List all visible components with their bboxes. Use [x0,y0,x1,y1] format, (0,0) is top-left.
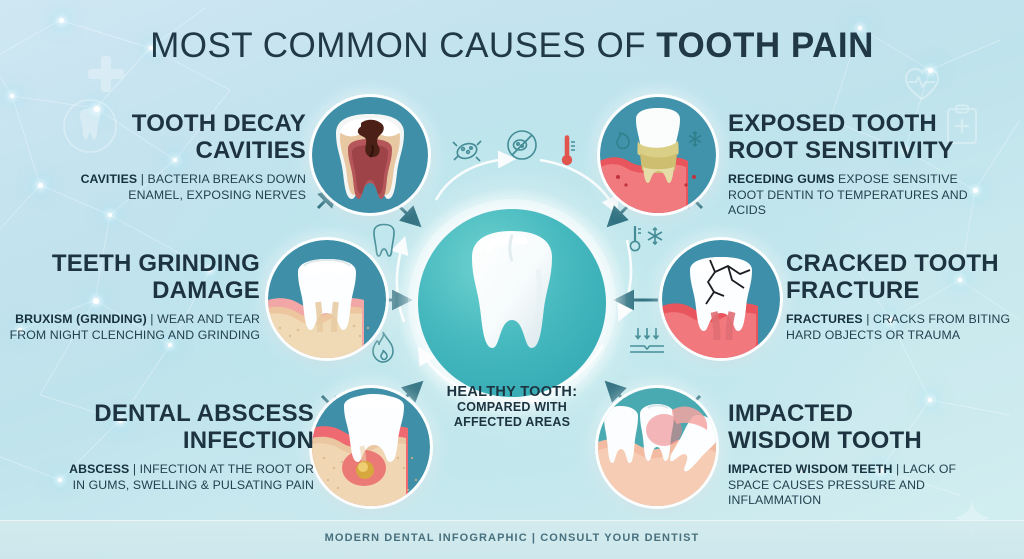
body-impacted-wisdom: IMPACTED WISDOM TEETH | LACK OF SPACE CA… [728,462,984,509]
circle-tooth-decay[interactable] [312,97,428,213]
text-block-dental-abscess: DENTAL ABSCESS INFECTION ABSCESS | INFEC… [58,400,314,493]
thermometer-snowflake-icon [626,222,666,256]
body-dental-abscess: ABSCESS | INFECTION AT THE ROOT OR IN GU… [58,462,314,493]
center-caption-title: HEALTHY TOOTH: [412,384,612,400]
heading-line-2: INFECTION [183,427,314,454]
footer-bar: MODERN DENTAL INFOGRAPHIC | CONSULT YOUR… [0,520,1024,559]
bacteria-icon [450,136,484,166]
bg-node [38,183,43,188]
heading-line-1: TOOTH DECAY [132,110,306,137]
bg-node [59,18,64,23]
heading-line-2: WISDOM TOOTH [728,427,922,454]
heading-line-2: FRACTURE [786,277,920,304]
text-block-teeth-grinding: TEETH GRINDING DAMAGE BRUXISM (GRINDING)… [8,250,260,343]
pressure-arrows-icon [626,326,668,360]
abscess-tooth-illustration [312,388,430,506]
infographic-canvas: MOST COMMON CAUSES OF TOOTH PAIN [0,0,1024,559]
body-bold: BRUXISM (GRINDING) [15,312,147,326]
heading-line-2: ROOT SENSITIVITY [728,137,954,164]
heading-tooth-decay: TOOTH DECAY CAVITIES [50,110,306,164]
heading-line-1: TEETH GRINDING [52,250,260,277]
text-block-tooth-decay: TOOTH DECAY CAVITIES CAVITIES | BACTERIA… [50,110,306,203]
circle-impacted-wisdom[interactable] [598,388,716,506]
bg-node [108,213,112,217]
bg-node [10,94,14,98]
body-bold: RECEDING GUMS [728,172,835,186]
receding-gums-illustration [600,97,716,213]
body-teeth-grinding: BRUXISM (GRINDING) | WEAR AND TEAR FROM … [8,312,260,343]
center-healthy-tooth-circle[interactable] [418,209,606,397]
worn-tooth-illustration [268,240,386,358]
body-exposed-root: RECEDING GUMS EXPOSE SENSITIVE ROOT DENT… [728,172,984,219]
center-caption-line1: COMPARED WITH [412,400,612,415]
heading-line-1: CRACKED TOOTH [786,250,999,277]
circle-exposed-root[interactable] [600,97,716,213]
bg-node [168,343,172,347]
body-cracked-tooth: FRACTURES | CRACKS FROM BITING HARD OBJE… [786,312,1024,343]
body-bold: CAVITIES [81,172,138,186]
healthy-tooth-illustration [418,209,606,397]
text-block-exposed-root: EXPOSED TOOTH ROOT SENSITIVITY RECEDING … [728,110,984,219]
center-caption-line2: AFFECTED AREAS [412,415,612,430]
center-caption: HEALTHY TOOTH: COMPARED WITH AFFECTED AR… [412,384,612,430]
heading-line-1: EXPOSED TOOTH [728,110,937,137]
heading-teeth-grinding: TEETH GRINDING DAMAGE [8,250,260,304]
text-block-impacted-wisdom: IMPACTED WISDOM TOOTH IMPACTED WISDOM TE… [728,400,984,509]
heading-impacted-wisdom: IMPACTED WISDOM TOOTH [728,400,984,454]
thermometer-icon [558,134,576,168]
cracked-tooth-illustration [662,240,780,358]
heading-dental-abscess: DENTAL ABSCESS INFECTION [58,400,314,454]
heartbeat-icon [900,62,944,106]
heading-line-2: DAMAGE [152,277,260,304]
body-tooth-decay: CAVITIES | BACTERIA BREAKS DOWN ENAMEL, … [50,172,306,203]
title-regular: MOST COMMON CAUSES OF [150,26,656,65]
circle-teeth-grinding[interactable] [268,240,386,358]
impacted-wisdom-tooth-illustration [598,388,716,506]
tooth-cavity-cross-section-illustration [312,97,428,213]
tooth-outline-icon [368,222,400,258]
circle-cracked-tooth[interactable] [662,240,780,358]
heading-cracked-tooth: CRACKED TOOTH FRACTURE [786,250,1024,304]
body-bold: FRACTURES [786,312,863,326]
page-title: MOST COMMON CAUSES OF TOOTH PAIN [0,26,1024,66]
text-block-cracked-tooth: CRACKED TOOTH FRACTURE FRACTURES | CRACK… [786,250,1024,343]
heading-line-2: CAVITIES [195,137,306,164]
title-bold: TOOTH PAIN [656,26,874,65]
body-bold: IMPACTED WISDOM TEETH [728,462,892,476]
footer-text: MODERN DENTAL INFOGRAPHIC | CONSULT YOUR… [0,532,1024,544]
no-germs-icon [505,128,539,162]
body-bold: ABSCESS [69,462,129,476]
heading-line-1: DENTAL ABSCESS [94,400,314,427]
heading-line-1: IMPACTED [728,400,853,427]
circle-dental-abscess[interactable] [312,388,430,506]
heading-exposed-root: EXPOSED TOOTH ROOT SENSITIVITY [728,110,984,164]
body-text: | BACTERIA BREAKS DOWN ENAMEL, EXPOSING … [128,172,306,202]
